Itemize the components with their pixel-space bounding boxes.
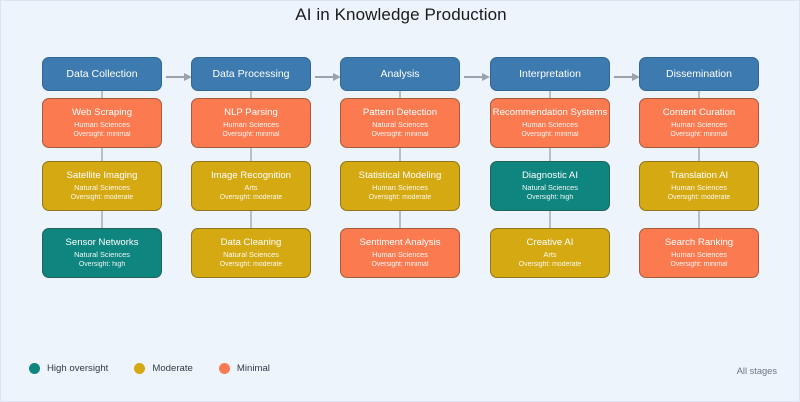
- technique-field: Human Sciences: [640, 182, 758, 193]
- stage-label: Dissemination: [666, 68, 732, 80]
- technique-field: Human Sciences: [341, 249, 459, 260]
- stage-label: Data Processing: [212, 68, 289, 80]
- stage-column: Analysis: [340, 57, 460, 91]
- technique-field: Human Sciences: [640, 119, 758, 130]
- technique-title: Statistical Modeling: [341, 169, 459, 182]
- technique-field: Arts: [491, 249, 609, 260]
- technique-oversight: Oversight: minimal: [640, 130, 758, 140]
- technique-title: Translation AI: [640, 169, 758, 182]
- technique-title: Diagnostic AI: [491, 169, 609, 182]
- technique-title: Pattern Detection: [341, 106, 459, 119]
- technique-oversight: Oversight: moderate: [43, 193, 161, 203]
- technique-card[interactable]: Diagnostic AINatural SciencesOversight: …: [490, 161, 610, 211]
- technique-card[interactable]: Sensor NetworksNatural SciencesOversight…: [42, 228, 162, 278]
- technique-field: Human Sciences: [640, 249, 758, 260]
- technique-oversight: Oversight: minimal: [43, 130, 161, 140]
- stage-arrow: [315, 72, 343, 82]
- technique-field: Human Sciences: [192, 119, 310, 130]
- technique-title: Creative AI: [491, 236, 609, 249]
- technique-oversight: Oversight: high: [43, 260, 161, 270]
- technique-field: Natural Sciences: [43, 249, 161, 260]
- technique-title: Image Recognition: [192, 169, 310, 182]
- technique-field: Natural Sciences: [341, 119, 459, 130]
- legend-item-moderate[interactable]: Moderate: [134, 363, 193, 374]
- technique-card[interactable]: Web ScrapingHuman SciencesOversight: min…: [42, 98, 162, 148]
- technique-field: Natural Sciences: [192, 249, 310, 260]
- technique-card[interactable]: Content CurationHuman SciencesOversight:…: [639, 98, 759, 148]
- technique-oversight: Oversight: moderate: [192, 193, 310, 203]
- technique-title: Content Curation: [640, 106, 758, 119]
- legend: High oversightModerateMinimal: [29, 363, 270, 374]
- technique-card[interactable]: Recommendation SystemsHuman SciencesOver…: [490, 98, 610, 148]
- technique-field: Human Sciences: [43, 119, 161, 130]
- legend-label: Minimal: [237, 363, 270, 374]
- technique-oversight: Oversight: minimal: [192, 130, 310, 140]
- stage-column: Data Collection: [42, 57, 162, 91]
- technique-field: Arts: [192, 182, 310, 193]
- legend-dot-icon: [134, 363, 145, 374]
- stage-box-data-processing[interactable]: Data Processing: [191, 57, 311, 91]
- stage-column: Dissemination: [639, 57, 759, 91]
- technique-card[interactable]: NLP ParsingHuman SciencesOversight: mini…: [191, 98, 311, 148]
- stage-arrow: [166, 72, 194, 82]
- stage-label: Data Collection: [66, 68, 137, 80]
- technique-title: Search Ranking: [640, 236, 758, 249]
- technique-oversight: Oversight: moderate: [640, 193, 758, 203]
- technique-title: Satellite Imaging: [43, 169, 161, 182]
- technique-card[interactable]: Translation AIHuman SciencesOversight: m…: [639, 161, 759, 211]
- footnote-label: All stages: [737, 366, 777, 376]
- technique-card[interactable]: Sentiment AnalysisHuman SciencesOversigh…: [340, 228, 460, 278]
- stage-column: Interpretation: [490, 57, 610, 91]
- technique-card[interactable]: Pattern DetectionNatural SciencesOversig…: [340, 98, 460, 148]
- technique-oversight: Oversight: moderate: [491, 260, 609, 270]
- legend-item-minimal[interactable]: Minimal: [219, 363, 270, 374]
- technique-oversight: Oversight: high: [491, 193, 609, 203]
- stage-box-analysis[interactable]: Analysis: [340, 57, 460, 91]
- stage-arrow: [614, 72, 642, 82]
- stage-box-interpretation[interactable]: Interpretation: [490, 57, 610, 91]
- legend-label: Moderate: [152, 363, 193, 374]
- technique-card[interactable]: Image RecognitionArtsOversight: moderate: [191, 161, 311, 211]
- technique-field: Human Sciences: [341, 182, 459, 193]
- technique-oversight: Oversight: minimal: [491, 130, 609, 140]
- stage-label: Analysis: [380, 68, 419, 80]
- technique-title: Sentiment Analysis: [341, 236, 459, 249]
- technique-card[interactable]: Search RankingHuman SciencesOversight: m…: [639, 228, 759, 278]
- stage-box-data-collection[interactable]: Data Collection: [42, 57, 162, 91]
- stage-label: Interpretation: [519, 68, 581, 80]
- technique-card[interactable]: Creative AIArtsOversight: moderate: [490, 228, 610, 278]
- page-title: AI in Knowledge Production: [1, 5, 800, 25]
- technique-oversight: Oversight: moderate: [192, 260, 310, 270]
- technique-card[interactable]: Satellite ImagingNatural SciencesOversig…: [42, 161, 162, 211]
- technique-field: Natural Sciences: [491, 182, 609, 193]
- legend-dot-icon: [219, 363, 230, 374]
- technique-oversight: Oversight: minimal: [640, 260, 758, 270]
- legend-dot-icon: [29, 363, 40, 374]
- technique-card[interactable]: Data CleaningNatural SciencesOversight: …: [191, 228, 311, 278]
- stage-column: Data Processing: [191, 57, 311, 91]
- technique-title: Data Cleaning: [192, 236, 310, 249]
- technique-title: NLP Parsing: [192, 106, 310, 119]
- technique-title: Sensor Networks: [43, 236, 161, 249]
- legend-label: High oversight: [47, 363, 108, 374]
- diagram-canvas: AI in Knowledge Production Data Collecti…: [0, 0, 800, 402]
- technique-title: Recommendation Systems: [491, 106, 609, 119]
- stage-arrow: [464, 72, 492, 82]
- legend-item-high[interactable]: High oversight: [29, 363, 108, 374]
- technique-oversight: Oversight: minimal: [341, 130, 459, 140]
- technique-field: Natural Sciences: [43, 182, 161, 193]
- technique-field: Human Sciences: [491, 119, 609, 130]
- technique-card[interactable]: Statistical ModelingHuman SciencesOversi…: [340, 161, 460, 211]
- technique-title: Web Scraping: [43, 106, 161, 119]
- technique-oversight: Oversight: minimal: [341, 260, 459, 270]
- technique-oversight: Oversight: moderate: [341, 193, 459, 203]
- stage-box-dissemination[interactable]: Dissemination: [639, 57, 759, 91]
